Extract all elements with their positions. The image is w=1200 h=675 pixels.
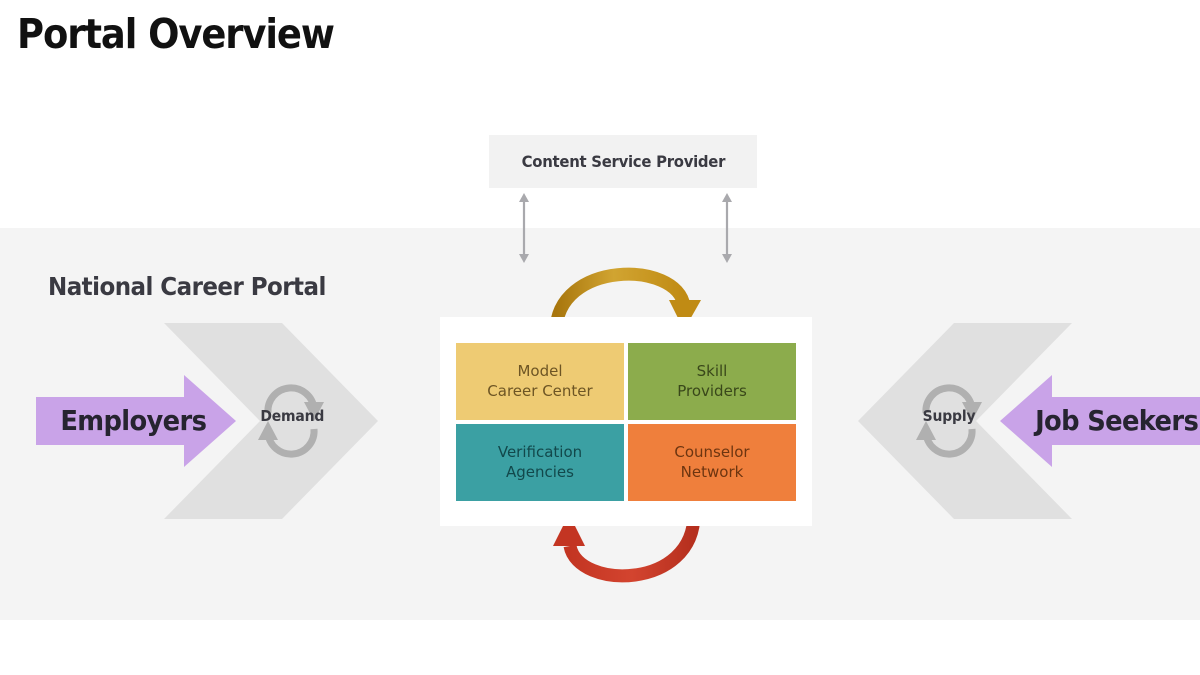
page-title: Portal Overview — [17, 10, 334, 58]
quadrant-line2: Network — [681, 463, 744, 482]
quadrant-line2: Agencies — [506, 463, 574, 482]
quadrant-line1: Skill — [697, 362, 728, 381]
quadrant-verification-agencies[interactable]: Verification Agencies — [456, 424, 624, 501]
content-service-provider-label: Content Service Provider — [521, 152, 725, 171]
quadrant-skill-providers[interactable]: Skill Providers — [628, 343, 796, 420]
quadrant-counselor-network[interactable]: Counselor Network — [628, 424, 796, 501]
quadrant-line1: Counselor — [674, 443, 749, 462]
quadrant-grid: Model Career Center Skill Providers Veri… — [456, 343, 796, 501]
diagram-canvas: Portal Overview National Career Portal C… — [0, 0, 1200, 675]
supply-label: Supply — [917, 407, 980, 425]
employers-label: Employers — [60, 404, 206, 437]
quadrant-line1: Model — [517, 362, 562, 381]
demand-label: Demand — [260, 407, 323, 425]
content-service-provider-box[interactable]: Content Service Provider — [489, 135, 757, 188]
quadrant-line2: Providers — [677, 382, 747, 401]
band-label: National Career Portal — [48, 272, 326, 301]
quadrant-line2: Career Center — [487, 382, 592, 401]
vertical-double-arrow-icon-left — [517, 192, 531, 264]
quadrant-model-career-center[interactable]: Model Career Center — [456, 343, 624, 420]
job-seekers-label: Job Seekers — [1035, 404, 1198, 437]
center-panel: Model Career Center Skill Providers Veri… — [440, 317, 812, 526]
quadrant-line1: Verification — [498, 443, 582, 462]
